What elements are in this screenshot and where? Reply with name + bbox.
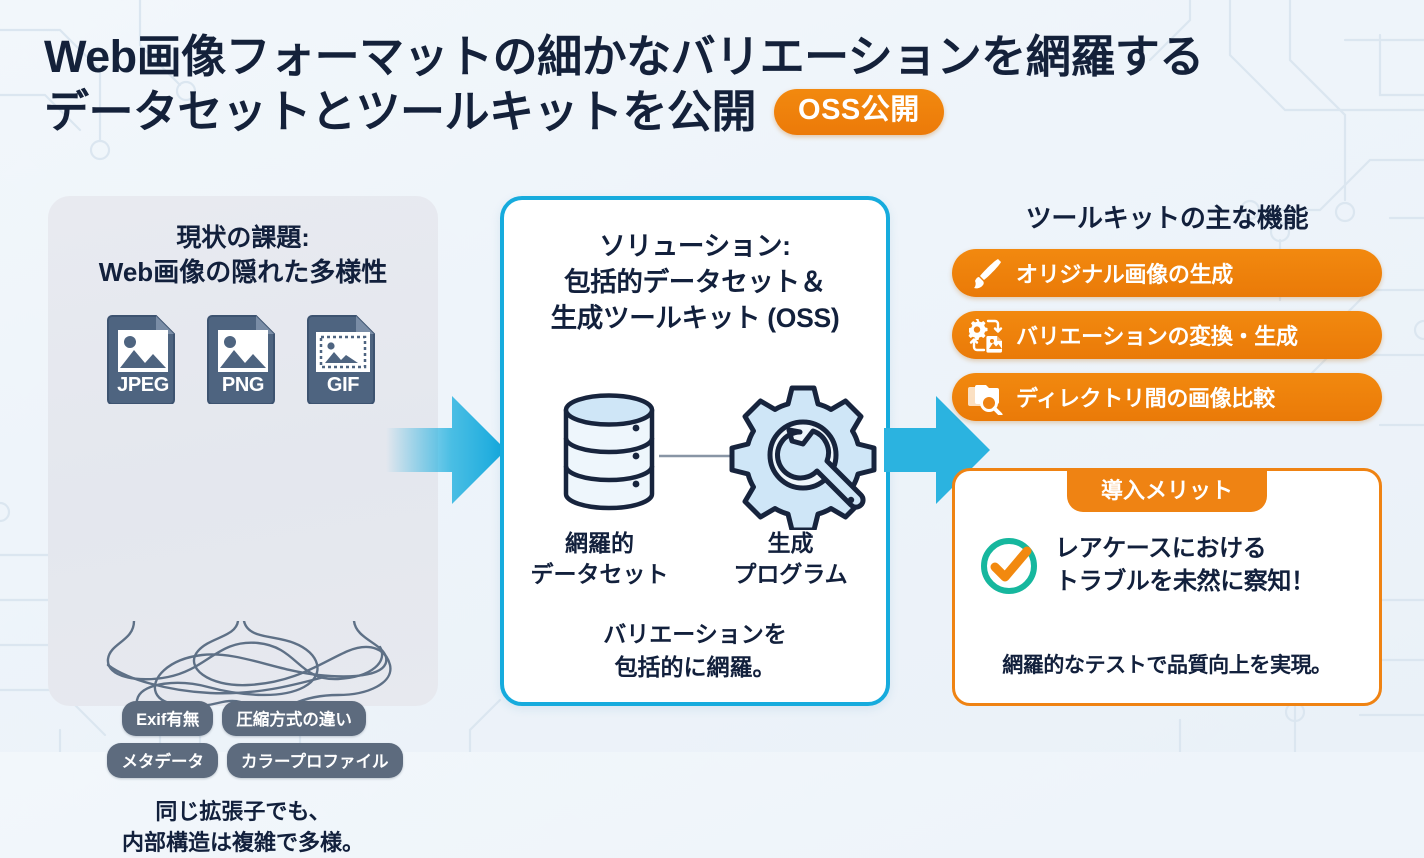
check-circle-icon: [977, 534, 1041, 598]
paintbrush-icon: [968, 255, 1004, 291]
folder-search-icon: [968, 379, 1004, 415]
solution-heading-line-2: 包括的データセット＆: [504, 264, 886, 300]
solution-footer-line-1: バリエーションを: [504, 618, 886, 651]
file-card-gif: GIF: [306, 312, 380, 404]
merit-footer: 網羅的なテストで品質向上を実現。: [955, 649, 1379, 679]
solution-heading-line-1: ソリューション:: [504, 228, 886, 264]
feature-item-directory-compare[interactable]: ディレクトリ間の画像比較: [952, 373, 1382, 421]
solution-heading-line-3: 生成ツールキット (OSS): [504, 300, 886, 336]
tag-exif: Exif有無: [122, 701, 213, 736]
tag-row-2: メタデータ カラープロファイル: [74, 743, 414, 778]
feature-label-variation-convert: バリエーションの変換・生成: [1016, 319, 1298, 351]
problem-footer-line-1: 同じ拡張子でも、: [48, 796, 438, 827]
title-line-1: Web画像フォーマットの細かなバリエーションを網羅する: [44, 30, 1384, 85]
solution-footer: バリエーションを 包括的に網羅。: [504, 618, 886, 683]
merit-main: レアケースにおける トラブルを未然に察知！: [977, 533, 1363, 598]
page-title: Web画像フォーマットの細かなバリエーションを網羅する データセットとツールキッ…: [44, 30, 1384, 140]
solution-footer-line-2: 包括的に網羅。: [504, 651, 886, 684]
solution-caption-program: 生成 プログラム: [695, 528, 886, 590]
merit-main-line-2: トラブルを未然に察知！: [1055, 566, 1315, 599]
file-format-icons: JPEG PNG: [48, 312, 438, 404]
title-line-2: データセットとツールキットを公開: [44, 85, 756, 140]
solution-icons: [504, 380, 886, 530]
problem-heading: 現状の課題: Web画像の隠れた多様性: [48, 222, 438, 290]
gear-file-convert-icon: [968, 317, 1004, 353]
solution-captions: 網羅的 データセット 生成 プログラム: [504, 528, 886, 590]
feature-item-original-image[interactable]: オリジナル画像の生成: [952, 249, 1382, 297]
merit-box: 導入メリット レアケースにおける トラブルを未然に察知！ 網羅的なテストで品質向…: [952, 468, 1382, 706]
problem-footer-line-2: 内部構造は複雑で多様。: [48, 827, 438, 858]
solution-caption-dataset-line-1: 網羅的: [504, 528, 695, 559]
feature-label-directory-compare: ディレクトリ間の画像比較: [1016, 381, 1275, 413]
gear-wrench-icon: [732, 388, 874, 530]
problem-heading-line-1: 現状の課題:: [48, 222, 438, 255]
problem-footer: 同じ拡張子でも、 内部構造は複雑で多様。: [48, 796, 438, 858]
arrow-left-to-center: [386, 392, 506, 508]
file-label-gif: GIF: [306, 374, 380, 397]
tag-metadata: メタデータ: [107, 743, 218, 778]
file-card-png: PNG: [206, 312, 280, 404]
file-label-jpeg: JPEG: [106, 374, 180, 397]
problem-tag-list: Exif有無 圧縮方式の違い メタデータ カラープロファイル: [74, 701, 414, 785]
solution-panel: ソリューション: 包括的データセット＆ 生成ツールキット (OSS): [500, 196, 890, 706]
database-icon: [566, 396, 652, 509]
merit-main-line-1: レアケースにおける: [1055, 533, 1315, 566]
tangled-lines-illustration: [98, 621, 398, 713]
problem-heading-line-2: Web画像の隠れた多様性: [48, 255, 438, 290]
file-card-jpeg: JPEG: [106, 312, 180, 404]
solution-caption-dataset: 網羅的 データセット: [504, 528, 695, 590]
features-panel: ツールキットの主な機能 オリジナル画像の生成 バリエーションの変換・生: [952, 196, 1382, 706]
file-label-png: PNG: [206, 374, 280, 397]
tag-row-1: Exif有無 圧縮方式の違い: [74, 701, 414, 736]
solution-caption-program-line-2: プログラム: [695, 559, 886, 590]
solution-heading: ソリューション: 包括的データセット＆ 生成ツールキット (OSS): [504, 228, 886, 336]
tag-color-profile: カラープロファイル: [227, 743, 403, 778]
solution-caption-dataset-line-2: データセット: [504, 559, 695, 590]
solution-caption-program-line-1: 生成: [695, 528, 886, 559]
merit-tab-label: 導入メリット: [1067, 468, 1267, 512]
feature-item-variation-convert[interactable]: バリエーションの変換・生成: [952, 311, 1382, 359]
feature-label-original-image: オリジナル画像の生成: [1016, 257, 1233, 289]
oss-badge: OSS公開: [774, 89, 944, 135]
features-heading: ツールキットの主な機能: [952, 198, 1382, 235]
tag-compression: 圧縮方式の違い: [222, 701, 366, 736]
merit-main-text: レアケースにおける トラブルを未然に察知！: [1055, 533, 1315, 598]
problem-panel: 現状の課題: Web画像の隠れた多様性 JPEG: [48, 196, 438, 706]
